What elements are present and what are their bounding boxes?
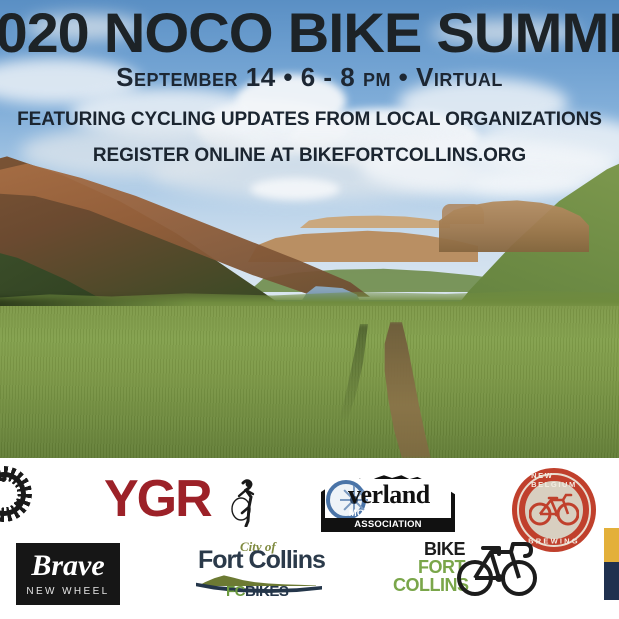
cloud-icon [470,172,590,194]
fc-wordmark: Fort Collins [198,548,325,573]
overland-subtitle: MOUNTAIN BIKE ASSOCIATION [321,508,455,530]
event-date-line: September 14 • 6 - 8 pm • Virtual [0,62,619,93]
event-register-line: REGISTER ONLINE AT BIKEFORTCOLLINS.ORG [0,145,619,167]
fcbikes-wordmark: FCBIKES [226,583,288,600]
bicycle-outline-icon [453,538,541,596]
fcbikes-prefix: FC [226,583,245,600]
chainring-bolt-icon [15,501,20,506]
hero-photo: 020 NOCO BIKE SUMMI September 14 • 6 - 8… [0,0,619,458]
partial-logo-bottom-band [604,562,619,600]
foreground-grassland [0,306,619,458]
page-title: 020 NOCO BIKE SUMMI [0,4,619,62]
sponsor-logo-bike-fort-collins[interactable]: BIKE FORT COLLINS [393,538,539,598]
brave-wordmark: Brave [16,551,120,581]
sponsor-logo-overland[interactable]: verland MOUNTAIN BIKE ASSOCIATION [318,470,458,532]
sponsor-logo-ygr[interactable]: YGR [104,473,264,529]
cyclist-icon [230,477,256,527]
sponsor-logo-chainring[interactable] [0,466,32,528]
sponsor-logo-partial-right[interactable] [604,528,619,600]
brave-subtitle: NEW WHEEL [16,586,120,597]
event-feature-line: FEATURING CYCLING UPDATES FROM LOCAL ORG… [0,109,619,131]
sponsor-logo-brave-new-wheel[interactable]: Brave NEW WHEEL [16,543,120,605]
overland-wordmark: verland [348,482,430,508]
event-poster: 020 NOCO BIKE SUMMI September 14 • 6 - 8… [0,0,619,619]
chainring-bolt-icon [1,477,6,482]
fcbikes-suffix: BIKES [245,583,288,600]
sponsor-logo-city-of-fort-collins[interactable]: City of Fort Collins FCBIKES [196,539,328,599]
partial-logo-top-band [604,528,619,562]
new-belgium-top-arc: NEW BELGIUM [531,471,577,489]
cloud-icon [250,178,340,200]
